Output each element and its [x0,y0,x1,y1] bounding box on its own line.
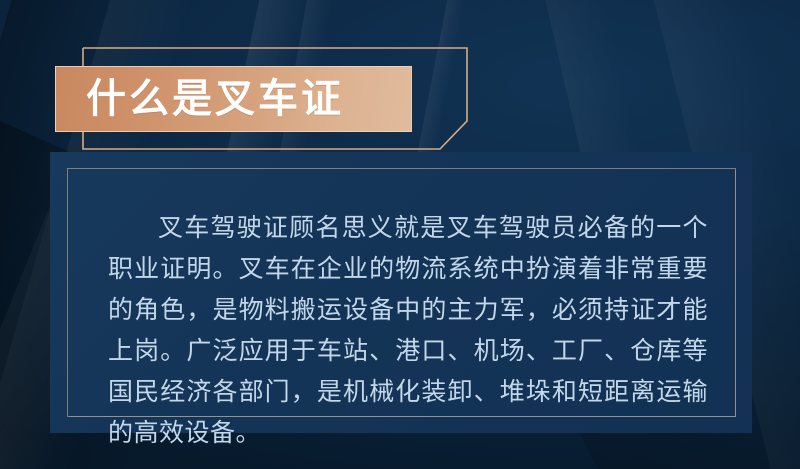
page-title: 什么是叉车证 [86,79,344,119]
slide-root: 什么是叉车证 叉车驾驶证顾名思义就是叉车驾驶员必备的一个职业证明。叉车在企业的物… [0,0,800,469]
title-banner: 什么是叉车证 [55,66,412,132]
body-paragraph: 叉车驾驶证顾名思义就是叉车驾驶员必备的一个职业证明。叉车在企业的物流系统中扮演着… [108,207,708,453]
content-panel: 叉车驾驶证顾名思义就是叉车驾驶员必备的一个职业证明。叉车在企业的物流系统中扮演着… [50,152,752,433]
